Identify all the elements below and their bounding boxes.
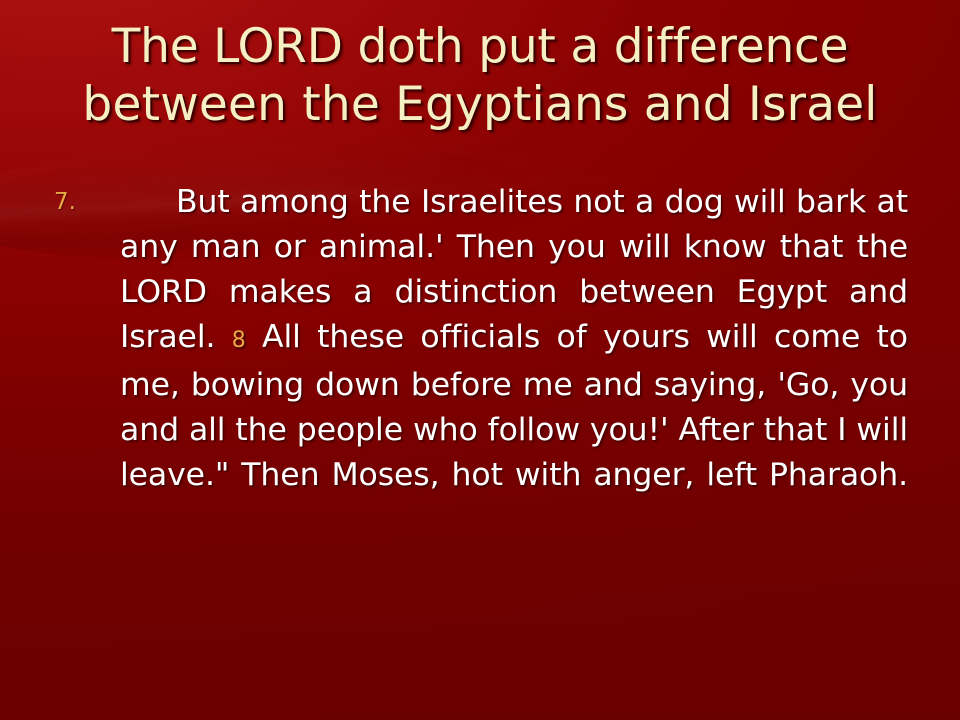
presentation-slide: The LORD doth put a difference between t… <box>0 0 960 720</box>
verse-number: 8 <box>232 328 246 353</box>
slide-body: 7. But among the Israelites not a dog wi… <box>52 180 908 543</box>
slide-title-line-1: The LORD doth put a difference <box>28 18 932 76</box>
slide-title: The LORD doth put a difference between t… <box>28 18 932 134</box>
slide-title-line-2: between the Egyptians and Israel <box>28 76 932 134</box>
body-paragraph: But among the Israelites not a dog will … <box>120 180 908 543</box>
list-item-marker: 7. <box>52 180 120 225</box>
